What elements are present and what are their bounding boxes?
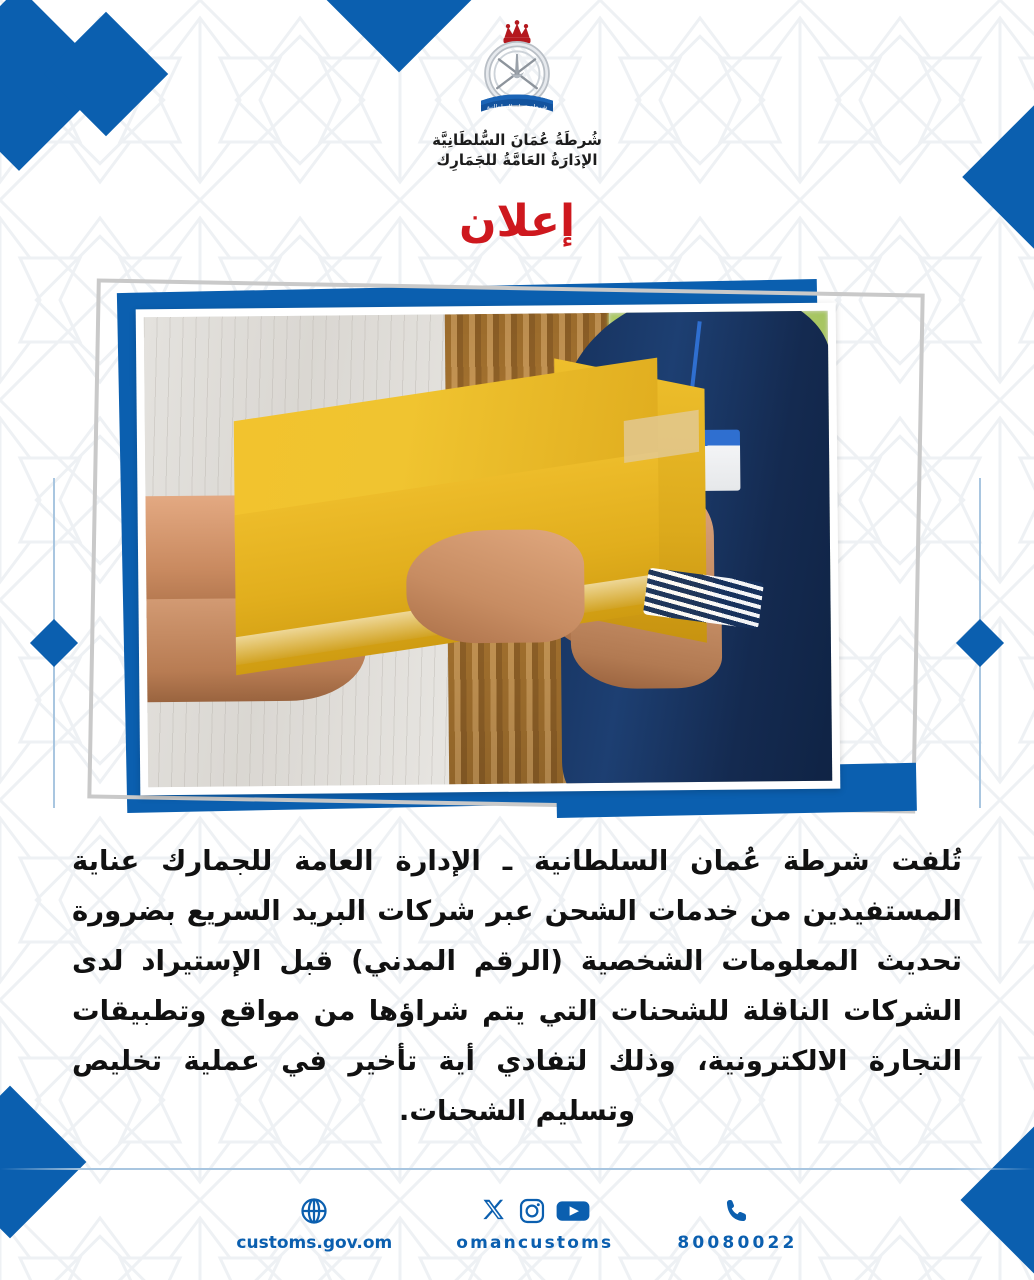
photo-composition (0, 278, 1034, 838)
x-twitter-icon[interactable] (480, 1197, 508, 1225)
page-title: إعلان (0, 196, 1034, 247)
photo-frame (136, 303, 841, 796)
youtube-icon[interactable] (556, 1198, 590, 1224)
website-label[interactable]: customs.gov.om (236, 1233, 392, 1253)
organization-header: شرطة عمان السلطانية شُرطَةُ عُمَانَ السُ… (0, 18, 1034, 171)
svg-text:شرطة عمان السلطانية: شرطة عمان السلطانية (487, 104, 548, 111)
phone-label[interactable]: 80080022 (677, 1233, 797, 1253)
footer-website-group[interactable]: customs.gov.om (236, 1196, 392, 1253)
organization-name: شُرطَةُ عُمَانَ السُّلطَانِيَّة الإدَارَ… (432, 130, 602, 171)
royal-oman-police-emblem-icon: شرطة عمان السلطانية (463, 18, 571, 126)
organization-name-line2: الإدَارَةُ العَامَّةُ للجَمَارِك (432, 150, 602, 170)
announcement-poster: شرطة عمان السلطانية شُرطَةُ عُمَانَ السُ… (0, 0, 1034, 1280)
footer-phone-group[interactable]: 80080022 (677, 1196, 797, 1253)
phone-icon[interactable] (723, 1197, 751, 1225)
instagram-icon[interactable] (518, 1197, 546, 1225)
globe-icon[interactable] (299, 1196, 329, 1226)
footer-social-group[interactable]: omancustoms (456, 1196, 613, 1253)
footer: customs.gov.om omancustoms (0, 1196, 1034, 1253)
footer-divider (0, 1168, 1034, 1170)
courier-parcel-photo (144, 311, 832, 788)
organization-name-line1: شُرطَةُ عُمَانَ السُّلطَانِيَّة (432, 130, 602, 150)
announcement-body: تُلفت شرطة عُمان السلطانية ـ الإدارة الع… (72, 836, 962, 1136)
social-handle-label[interactable]: omancustoms (456, 1233, 613, 1253)
